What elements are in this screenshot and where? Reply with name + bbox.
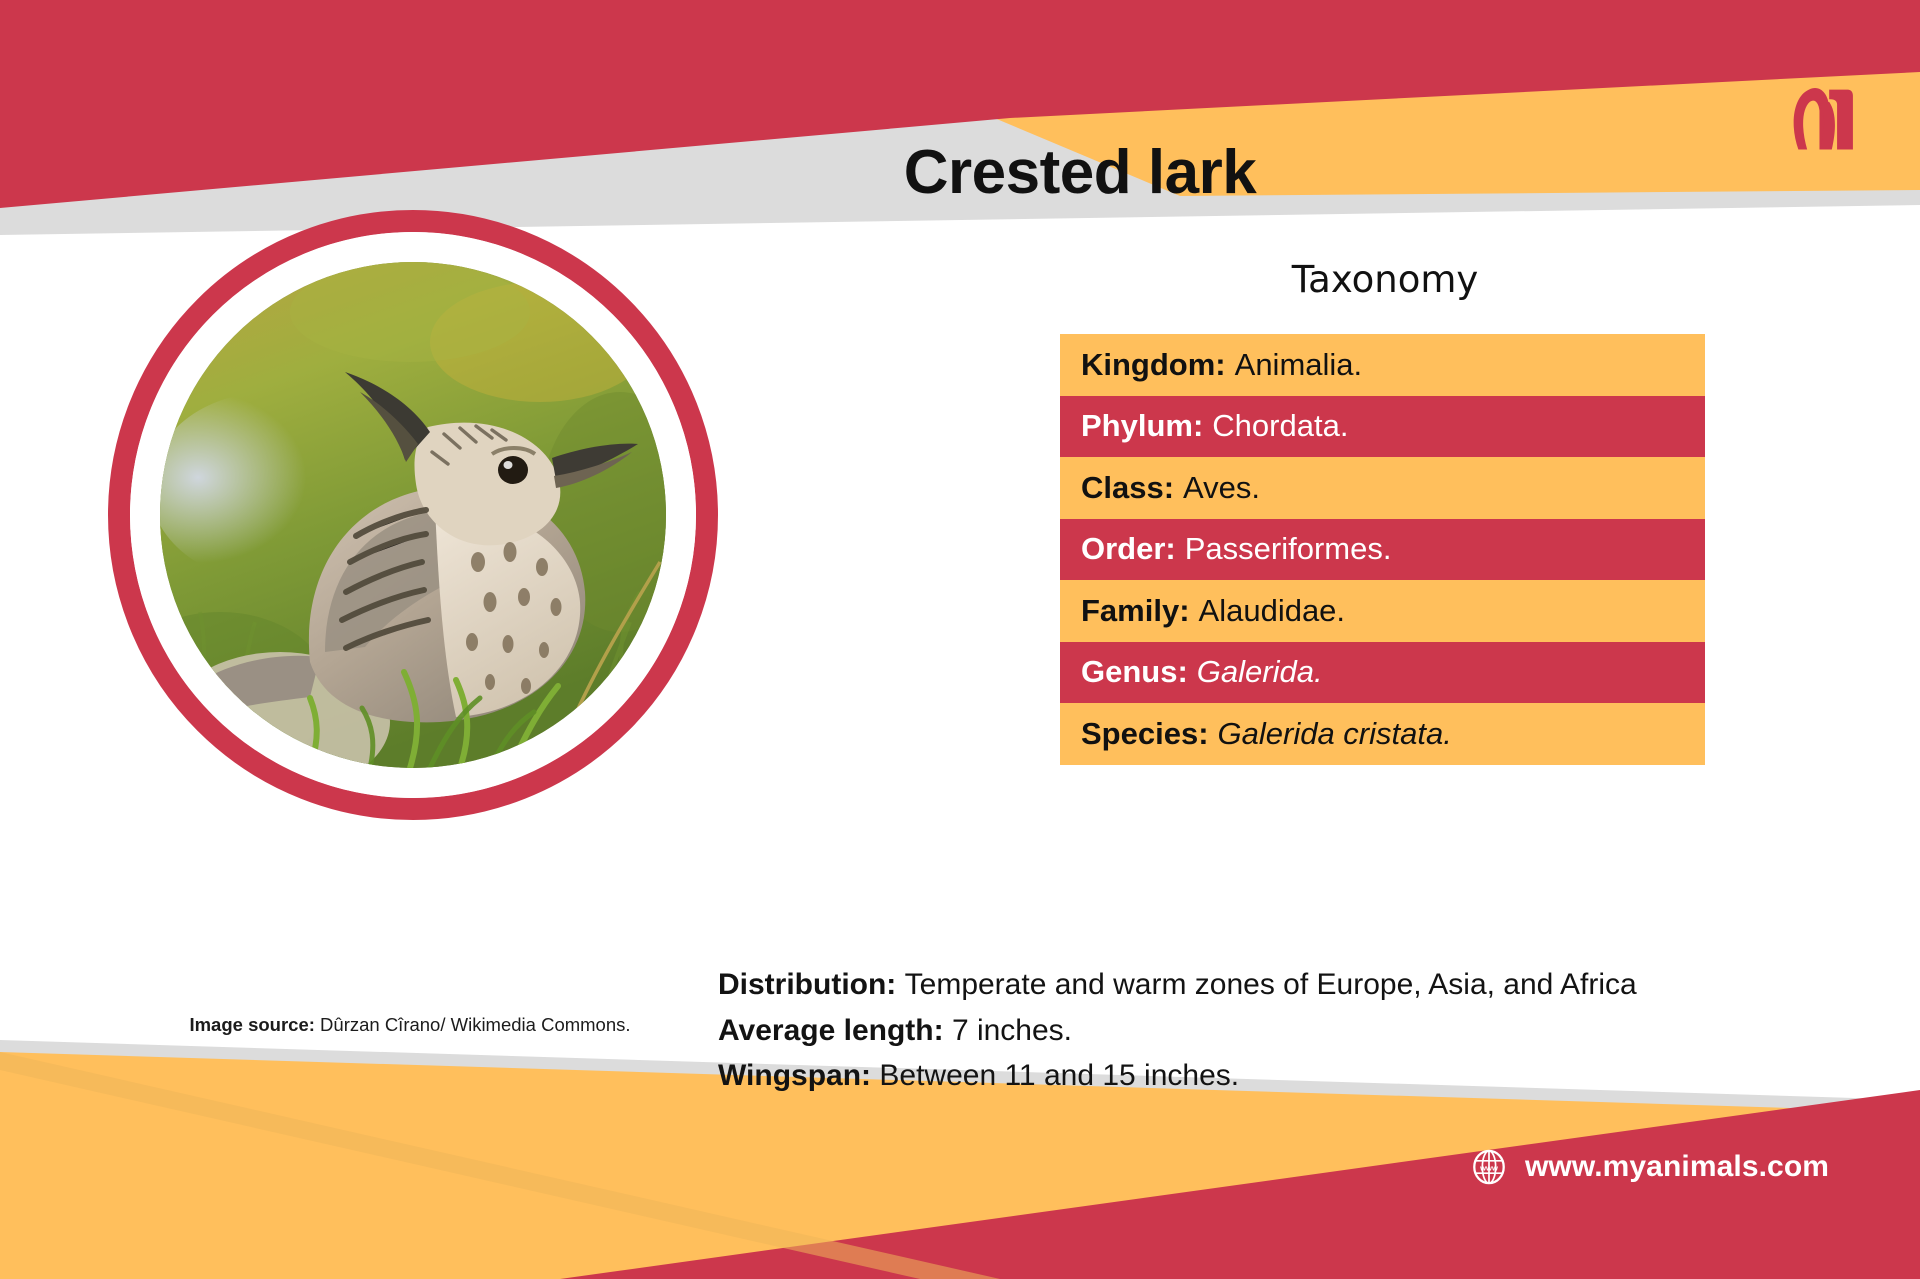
taxonomy-rank-label: Kingdom:	[1081, 347, 1226, 383]
svg-text:www: www	[1479, 1163, 1498, 1172]
fact-label: Distribution:	[718, 968, 905, 1001]
taxonomy-rank-label: Family:	[1081, 593, 1190, 629]
photo-source-value: Dûrzan Cîrano/ Wikimedia Commons.	[320, 1014, 630, 1035]
taxonomy-row-kingdom: Kingdom:Animalia.	[1060, 334, 1705, 396]
taxonomy-rank-label: Species:	[1081, 716, 1209, 752]
fact-average-length: Average length: 7 inches.	[718, 1008, 1898, 1054]
fact-value: Between 11 and 15 inches.	[879, 1059, 1239, 1092]
footer-url-text[interactable]: www.myanimals.com	[1525, 1150, 1829, 1184]
taxonomy-row-species: Species:Galerida cristata.	[1060, 703, 1705, 765]
taxonomy-row-family: Family:Alaudidae.	[1060, 580, 1705, 642]
page-title: Crested lark	[600, 140, 1560, 205]
fact-value: 7 inches.	[952, 1014, 1072, 1047]
taxonomy-row-phylum: Phylum:Chordata.	[1060, 396, 1705, 458]
taxonomy-rank-value: Chordata.	[1212, 408, 1348, 444]
photo-source-label: Image source:	[189, 1014, 314, 1035]
myanimals-logo	[1779, 72, 1867, 160]
fact-label: Average length:	[718, 1014, 952, 1047]
taxonomy-rank-label: Genus:	[1081, 654, 1188, 690]
fact-label: Wingspan:	[718, 1059, 879, 1092]
taxonomy-row-genus: Genus:Galerida.	[1060, 642, 1705, 704]
taxonomy-rank-value: Passeriformes.	[1185, 531, 1392, 567]
fact-distribution: Distribution: Temperate and warm zones o…	[718, 962, 1898, 1008]
taxonomy-rank-label: Phylum:	[1081, 408, 1203, 444]
bird-photo-frame	[108, 210, 718, 820]
taxonomy-rank-value: Animalia.	[1235, 347, 1363, 383]
taxonomy-row-class: Class:Aves.	[1060, 457, 1705, 519]
infographic-card: Crested lark	[0, 0, 1920, 1279]
taxonomy-rank-value: Galerida cristata.	[1218, 716, 1452, 752]
fact-wingspan: Wingspan: Between 11 and 15 inches.	[718, 1053, 1898, 1099]
fact-value: Temperate and warm zones of Europe, Asia…	[905, 968, 1637, 1001]
taxonomy-table: Kingdom:Animalia.Phylum:Chordata.Class:A…	[1060, 334, 1705, 765]
taxonomy-rank-label: Class:	[1081, 470, 1174, 506]
facts-block: Distribution: Temperate and warm zones o…	[718, 962, 1898, 1099]
taxonomy-heading: Taxonomy	[1060, 258, 1710, 301]
taxonomy-rank-value: Aves.	[1183, 470, 1260, 506]
taxonomy-rank-value: Alaudidae.	[1199, 593, 1346, 629]
globe-www-icon: www	[1470, 1148, 1508, 1186]
crested-lark-photo	[160, 262, 666, 768]
taxonomy-rank-label: Order:	[1081, 531, 1176, 567]
photo-source-caption: Image source: Dûrzan Cîrano/ Wikimedia C…	[150, 1012, 670, 1039]
taxonomy-rank-value: Galerida.	[1197, 654, 1323, 690]
footer-website[interactable]: www www.myanimals.com	[1470, 1148, 1829, 1186]
taxonomy-row-order: Order:Passeriformes.	[1060, 519, 1705, 581]
